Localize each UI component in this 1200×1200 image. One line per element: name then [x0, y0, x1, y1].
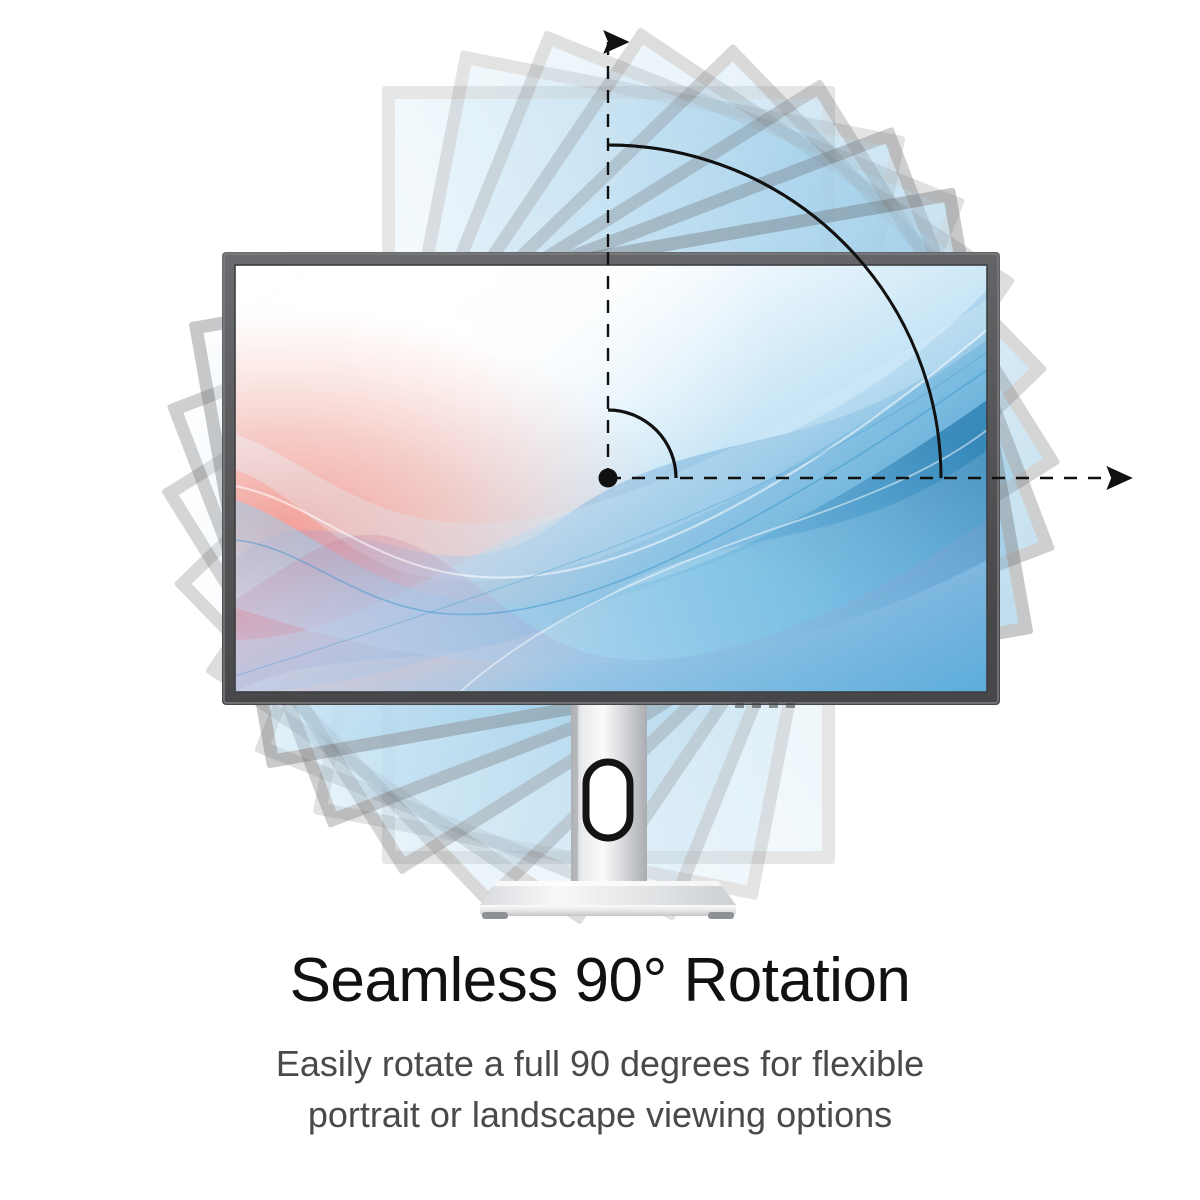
stand-base-foot-left: [482, 912, 508, 919]
cable-management-hole: [586, 762, 630, 838]
stand-base-front: [480, 905, 736, 916]
stand-base-shadowline: [494, 881, 722, 886]
subtitle-line-2: portrait or landscape viewing options: [0, 1089, 1200, 1140]
subtitle-line-1: Easily rotate a full 90 degrees for flex…: [0, 1038, 1200, 1089]
illustration-stage: Seamless 90° Rotation Easily rotate a fu…: [0, 0, 1200, 1200]
caption-block: Seamless 90° Rotation Easily rotate a fu…: [0, 950, 1200, 1140]
stand-base-foot-right: [708, 912, 734, 919]
stand-neck-edge: [571, 700, 578, 890]
page-title: Seamless 90° Rotation: [0, 950, 1200, 1012]
pivot-point: [599, 469, 618, 488]
